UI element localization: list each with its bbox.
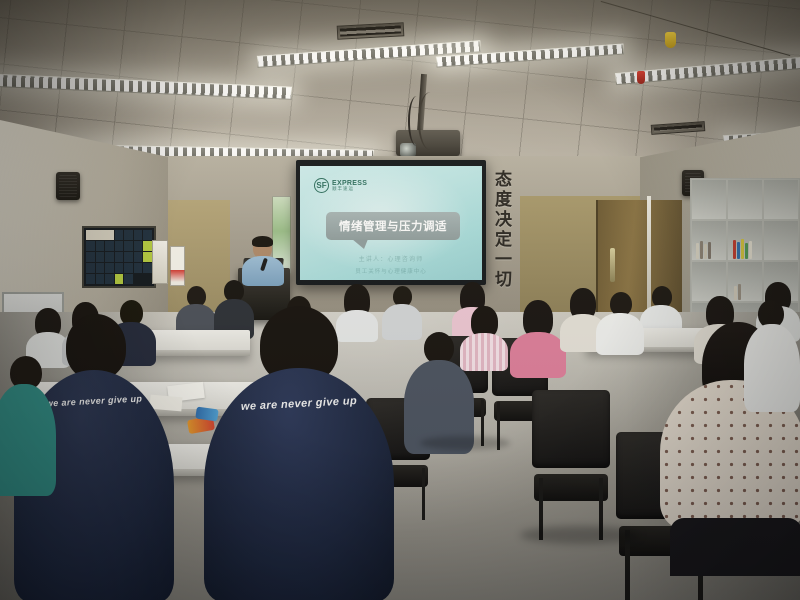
slide-title: 情绪管理与压力调适 <box>339 218 447 234</box>
audience-member-right-edge <box>744 300 800 410</box>
book <box>741 239 744 259</box>
lower-body <box>670 518 800 576</box>
book <box>700 241 703 259</box>
poster-red-stripe <box>170 246 185 286</box>
sf-logo-text: EXPRESS 顺丰速运 <box>332 180 367 192</box>
slide-title-bubble: 情绪管理与压力调适 <box>326 212 460 240</box>
photo-scene: 态度决定一切 <box>0 0 800 600</box>
torso <box>0 384 56 496</box>
chair[interactable] <box>532 390 610 540</box>
audience-member <box>596 292 644 354</box>
book <box>708 242 711 259</box>
audience-member <box>510 300 566 376</box>
presenter-hair <box>252 236 273 247</box>
floor-shadow <box>420 436 510 450</box>
projected-slide: SF EXPRESS 顺丰速运 情绪管理与压力调适 主讲人：心理咨询师 员工关怀… <box>300 166 482 280</box>
poster-white-left <box>152 240 168 284</box>
slide-subtitle-2: 员工关怀与心理健康中心 <box>300 267 482 275</box>
book <box>745 243 748 259</box>
book <box>737 242 740 259</box>
shelf-cell <box>727 220 763 261</box>
shelf-cell <box>691 179 727 220</box>
audience-member-mid-right <box>404 332 474 452</box>
book <box>696 243 699 259</box>
chair-seat <box>534 474 607 501</box>
book <box>749 241 752 259</box>
projector-cable-2 <box>418 92 444 150</box>
torso <box>744 324 800 412</box>
sf-express-logo: SF EXPRESS 顺丰速运 <box>314 178 367 193</box>
slide-subtitle-1: 主讲人：心理咨询师 <box>300 254 482 263</box>
chair-back <box>532 390 610 468</box>
board-photo <box>86 230 114 240</box>
shelf-cell <box>763 179 799 220</box>
chair-leg <box>422 468 425 520</box>
shelf-cell <box>727 179 763 220</box>
wall-slogan: 态度决定一切 <box>486 170 510 290</box>
presenter <box>238 238 288 284</box>
wall-speaker-left <box>56 172 80 200</box>
sf-logo-mark: SF <box>314 178 329 193</box>
audience-member-left-edge <box>0 356 56 496</box>
door-handle[interactable] <box>610 248 615 282</box>
book <box>704 244 707 259</box>
projection-screen: SF EXPRESS 顺丰速运 情绪管理与压力调适 主讲人：心理咨询师 员工关怀… <box>296 160 486 285</box>
floor-shadow <box>520 526 640 544</box>
shelf-cell <box>691 220 727 261</box>
audience-member-front-center: we are never give up <box>204 306 394 600</box>
notice-board <box>82 226 156 288</box>
torso <box>596 313 644 355</box>
torso <box>510 332 566 378</box>
shelf-cell <box>763 220 799 261</box>
navy-polo-shirt: we are never give up <box>204 368 394 600</box>
book <box>733 240 736 259</box>
polo-back-text: we are never give up <box>204 393 394 415</box>
